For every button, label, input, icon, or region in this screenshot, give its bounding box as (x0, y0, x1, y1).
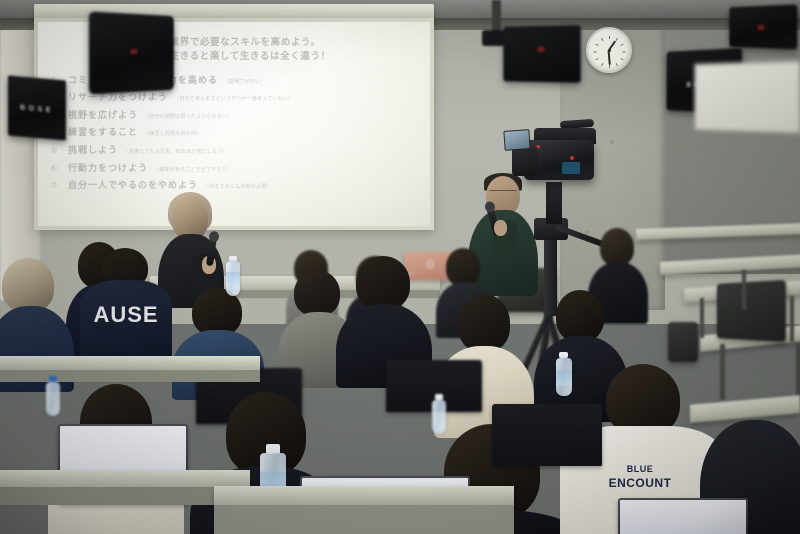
student-table-edge (0, 370, 260, 382)
water-bottle (556, 352, 572, 396)
student-table-edge (214, 505, 514, 534)
slide-item-sub: （自分で考えますというやつが一番考えていない） (174, 95, 293, 102)
clock-face (591, 32, 627, 68)
slide-item-main: 練習をすること (68, 125, 138, 138)
bose-speaker: BOSE (8, 75, 66, 140)
slide-item: ⑦ 自分一人でやるのをやめよう （何をするにも仲間が必要） (50, 178, 420, 191)
speaker-led-icon (758, 25, 764, 30)
water-bottle (226, 256, 240, 296)
classroom-photo: 映像業界で必要なスキルを高めよう。 楽しく生きると楽して生きるは全く違う！ ① … (0, 0, 800, 534)
clock-minute-hand (608, 50, 611, 65)
audience-member-navy-jacket: AUSE (80, 276, 172, 368)
slide-item-sub: （説明力がない） (224, 78, 266, 85)
slide-item-number: ⑤ (50, 145, 62, 156)
laptop-front-right[interactable] (492, 404, 602, 470)
speaker-led-icon (131, 49, 138, 54)
wall-clock (586, 27, 632, 73)
slide-item-sub: （練習し放題な世の中） (144, 130, 201, 137)
glasses-icon (489, 190, 517, 195)
classroom-chair (668, 322, 698, 362)
head (446, 248, 480, 286)
slide-item: ⑥ 行動力をつけよう （興味があることを全てやろう） (50, 161, 420, 174)
ceiling-speaker-mount (492, 0, 501, 34)
microphone-head (208, 230, 219, 242)
head (458, 294, 510, 352)
slide-item-main: 視野を広げよう (68, 108, 138, 121)
laptop-screen (620, 500, 746, 534)
head (2, 258, 54, 312)
slide-item-main: 行動力をつけよう (68, 161, 148, 174)
slide-item-number: ⑦ (50, 180, 62, 191)
laptop-lid (618, 498, 748, 534)
slide-item: ③ 視野を広げよう （自分の視野は思ったよりもせまい） (50, 108, 420, 121)
hand (494, 220, 507, 236)
whiteboard (694, 60, 800, 134)
slide-item-sub: （自分の視野は思ったよりもせまい） (144, 113, 232, 120)
head (294, 270, 340, 316)
slide-item-sub: （何をするにも仲間が必要） (204, 183, 271, 190)
camera-label (562, 162, 580, 174)
head (556, 290, 604, 342)
clock-center-pin (608, 49, 611, 52)
slide-item-main: 自分一人でやるのをやめよう (68, 178, 198, 191)
slide-item-main: 挑戦しよう (68, 143, 118, 156)
tshirt-text-line1: BLUE (627, 464, 654, 474)
bose-speaker (89, 11, 174, 94)
classroom-chair (717, 280, 786, 342)
student-table-edge (0, 487, 250, 505)
camera-mount (546, 182, 562, 224)
slide-item: ④ 練習をすること （練習し放題な世の中） (50, 125, 420, 138)
slide-item-number: ⑥ (50, 163, 62, 174)
slide-item-sub: （失敗しても大丈夫、死ぬほど努力しよう） (124, 148, 227, 155)
tshirt-text-line2: ENCOUNT (609, 476, 672, 490)
water-bottle (46, 376, 60, 416)
head (356, 256, 410, 310)
slide-item-sub: （興味があることを全てやろう） (154, 166, 232, 173)
camera-lens (512, 146, 538, 176)
laptop-front-far-right[interactable] (618, 498, 748, 534)
bose-speaker (729, 4, 797, 49)
water-bottle (432, 394, 446, 434)
camera-indicator-icon (570, 156, 574, 160)
ceiling-projector (503, 25, 580, 83)
camera-lcd-screen (503, 129, 530, 151)
head (600, 228, 634, 266)
projector-led-icon (538, 47, 545, 52)
bose-logo: BOSE (20, 104, 54, 114)
audience-member (340, 256, 426, 376)
laptop-lid (492, 404, 602, 466)
slide-item: ⑤ 挑戦しよう （失敗しても大丈夫、死ぬほど努力しよう） (50, 143, 420, 156)
jacket-text: AUSE (93, 302, 158, 328)
